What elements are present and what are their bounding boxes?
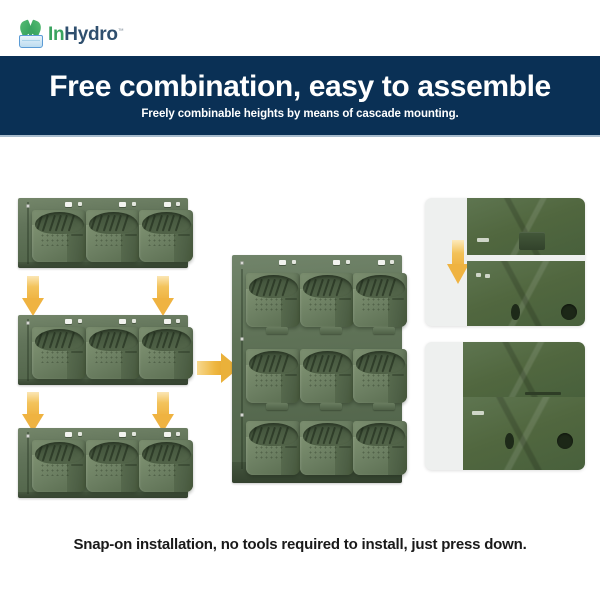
snap-socket	[561, 304, 577, 320]
pocket-slats	[305, 427, 351, 445]
mount-tab	[65, 319, 72, 324]
mount-tab	[119, 432, 126, 437]
pocket-slats	[305, 355, 351, 373]
mount-tab	[65, 432, 72, 437]
mount-tab	[132, 432, 136, 436]
pocket-rib	[71, 464, 83, 466]
pocket-opening	[356, 423, 405, 446]
mount-tab	[65, 202, 72, 207]
down-arrow-icon	[22, 276, 44, 316]
down-arrow-icon	[152, 276, 174, 316]
banner-underline	[0, 135, 600, 137]
detail-card-snap-after	[425, 342, 585, 470]
down-arrow-icon	[152, 392, 174, 432]
mount-tab	[78, 432, 82, 436]
pocket-opening	[89, 329, 138, 351]
pocket-opening	[303, 351, 352, 374]
joined-module-lower	[463, 397, 585, 470]
planter-pocket	[86, 440, 140, 492]
brand-logo: InHydro™	[18, 20, 123, 48]
pocket-rib	[125, 464, 137, 466]
brand-name-part1: In	[48, 24, 64, 45]
planter-pocket	[32, 327, 86, 379]
edge-marking	[476, 273, 481, 277]
pocket-opening	[303, 423, 352, 446]
assembled-row	[232, 331, 402, 407]
pocket-opening	[35, 212, 84, 234]
mount-tab	[176, 432, 180, 436]
pocket-rib	[339, 446, 351, 448]
pocket-rib	[178, 464, 190, 466]
mounting-hole	[240, 413, 244, 417]
pocket-rib	[125, 351, 137, 353]
pocket-slats	[91, 445, 137, 462]
mount-tab	[164, 432, 171, 437]
planter-pocket	[86, 327, 140, 379]
upper-module-edge	[467, 198, 585, 255]
planter-module-middle	[18, 315, 188, 385]
pocket-opening	[142, 329, 191, 351]
joined-module-upper	[463, 342, 585, 397]
mount-tab	[132, 319, 136, 323]
pocket-slats	[305, 279, 351, 297]
mount-tab	[279, 260, 286, 265]
mount-tab	[176, 319, 180, 323]
snap-socket-seated	[557, 433, 573, 449]
pocket-rib	[339, 298, 351, 300]
pocket-slats	[144, 215, 190, 232]
pocket-opening	[89, 442, 138, 464]
brand-name-part2: Hydro	[64, 24, 117, 45]
pocket-opening	[89, 212, 138, 234]
pocket-slats	[91, 215, 137, 232]
planter-pocket	[246, 273, 300, 327]
mount-tab	[390, 260, 394, 264]
snap-peg-seated	[505, 433, 514, 449]
edge-marking	[477, 238, 489, 242]
pocket-rib	[392, 374, 404, 376]
pocket-opening	[249, 351, 298, 374]
pocket-rib	[285, 446, 297, 448]
pocket-slats	[358, 279, 404, 297]
banner-subtitle: Freely combinable heights by means of ca…	[141, 109, 458, 121]
mount-tab	[119, 202, 126, 207]
edge-marking	[472, 411, 484, 415]
brand-name: InHydro™	[48, 25, 123, 44]
assembly-diagram	[0, 140, 600, 525]
planter-pocket	[139, 327, 193, 379]
snap-peg	[511, 304, 520, 320]
planter-module-top	[18, 198, 188, 268]
mount-tab	[292, 260, 296, 264]
mounting-hole	[26, 321, 30, 325]
lower-module-edge	[467, 261, 585, 326]
mount-tab	[78, 319, 82, 323]
mount-tab	[346, 260, 350, 264]
mounting-hole	[240, 261, 244, 265]
mount-tab	[333, 260, 340, 265]
sprout-in-planter-icon	[18, 20, 44, 48]
planter-pocket	[353, 349, 407, 403]
pocket-rib	[339, 374, 351, 376]
mount-tab	[78, 202, 82, 206]
assembled-row	[232, 255, 402, 331]
pocket-slats	[358, 427, 404, 445]
planter-pocket	[32, 440, 86, 492]
planter-pocket	[139, 210, 193, 262]
mount-tab	[164, 202, 171, 207]
mount-tab	[119, 319, 126, 324]
pocket-rib	[392, 298, 404, 300]
infographic-page: InHydro™ Free combination, easy to assem…	[0, 0, 600, 600]
assembled-row	[232, 407, 402, 483]
assembled-planter-wall	[232, 255, 402, 483]
planter-pocket	[353, 421, 407, 475]
planter-pocket	[86, 210, 140, 262]
planter-pocket	[246, 421, 300, 475]
mounting-hole	[26, 434, 30, 438]
pocket-slats	[251, 279, 297, 297]
pocket-opening	[303, 275, 352, 298]
edge-marking	[485, 274, 490, 278]
snap-knob	[519, 232, 545, 250]
pocket-slats	[91, 332, 137, 349]
banner-title: Free combination, easy to assemble	[49, 71, 551, 103]
pocket-slats	[358, 355, 404, 373]
mounting-hole	[26, 204, 30, 208]
detail-card-snap-before	[425, 198, 585, 326]
pocket-rib	[125, 234, 137, 236]
planter-pocket	[246, 349, 300, 403]
trademark-symbol: ™	[118, 28, 124, 34]
pocket-rib	[285, 298, 297, 300]
pocket-opening	[35, 442, 84, 464]
pocket-rib	[71, 351, 83, 353]
planter-pocket	[300, 421, 354, 475]
planter-pocket	[300, 349, 354, 403]
planter-pocket	[353, 273, 407, 327]
pocket-rib	[392, 446, 404, 448]
planter-pocket	[300, 273, 354, 327]
pocket-opening	[142, 212, 191, 234]
pocket-slats	[144, 445, 190, 462]
pocket-opening	[356, 275, 405, 298]
pocket-slats	[144, 332, 190, 349]
pocket-slats	[37, 332, 83, 349]
pocket-rib	[71, 234, 83, 236]
pocket-opening	[249, 423, 298, 446]
pocket-slats	[251, 427, 297, 445]
pocket-opening	[35, 329, 84, 351]
mount-tab	[378, 260, 385, 265]
pocket-slats	[37, 445, 83, 462]
pocket-rib	[178, 351, 190, 353]
pocket-opening	[356, 351, 405, 374]
footer-caption: Snap-on installation, no tools required …	[0, 536, 600, 553]
pocket-slats	[37, 215, 83, 232]
mount-tab	[164, 319, 171, 324]
pocket-slats	[251, 355, 297, 373]
seam-notch	[525, 392, 561, 395]
planter-pocket	[139, 440, 193, 492]
pocket-opening	[249, 275, 298, 298]
planter-pot-icon	[19, 35, 43, 48]
down-arrow-icon	[447, 240, 469, 284]
planter-module-bottom	[18, 428, 188, 498]
pocket-opening	[142, 442, 191, 464]
pocket-rib	[178, 234, 190, 236]
headline-banner: Free combination, easy to assemble Freel…	[0, 56, 600, 135]
mount-tab	[132, 202, 136, 206]
mounting-hole	[240, 337, 244, 341]
pocket-rib	[285, 374, 297, 376]
down-arrow-icon	[22, 392, 44, 432]
mount-tab	[176, 202, 180, 206]
planter-pocket	[32, 210, 86, 262]
